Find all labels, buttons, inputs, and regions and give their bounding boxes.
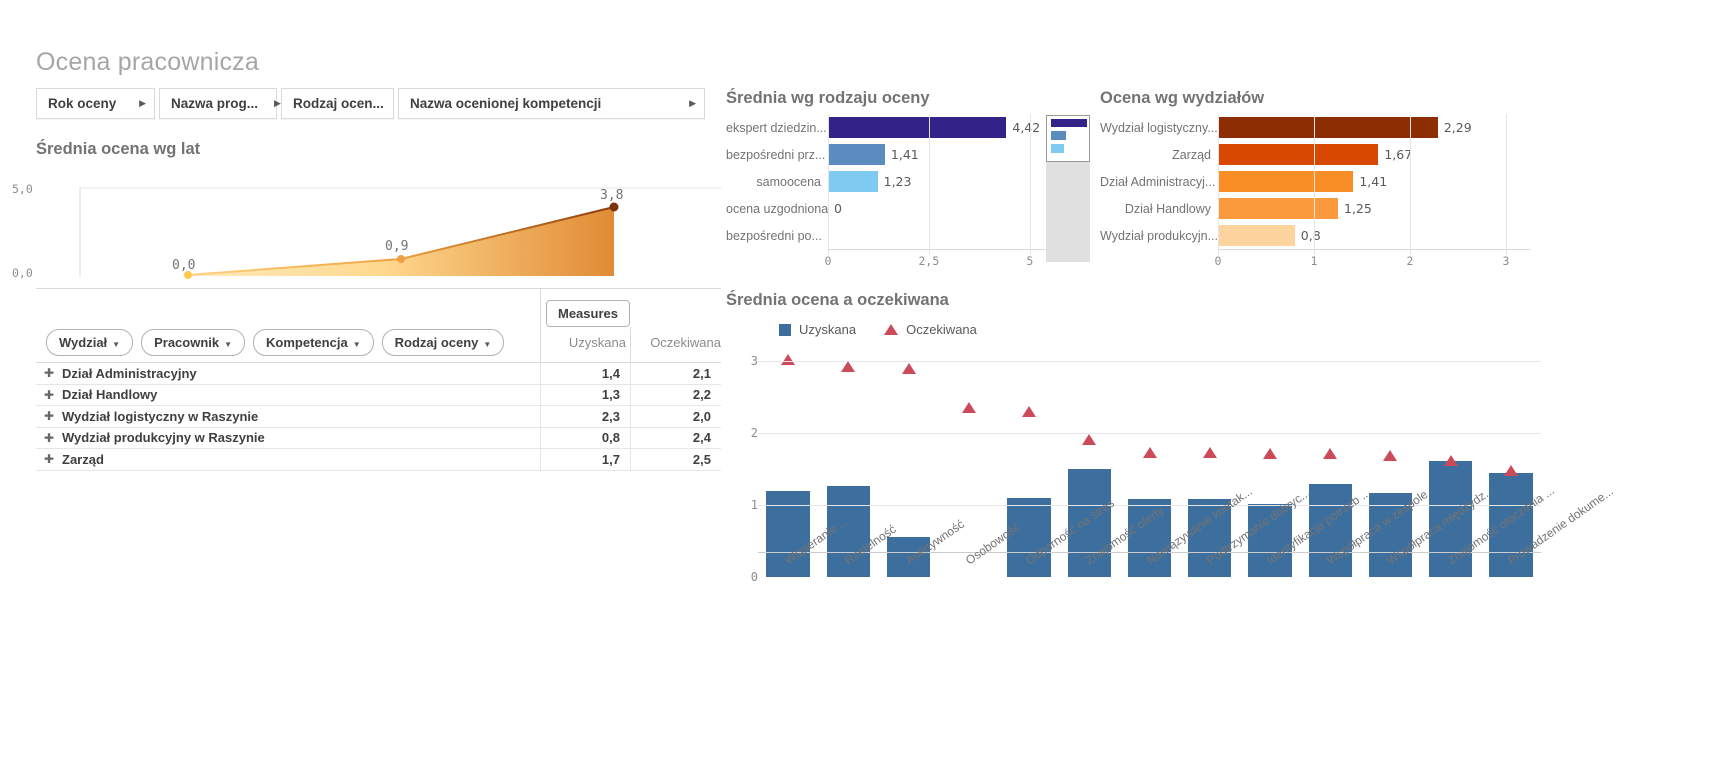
- column-header-oczekiwana[interactable]: Oczekiwana: [636, 335, 721, 350]
- legend-swatch: [1051, 119, 1087, 127]
- filter-nazwa-kompetencji[interactable]: Nazwa ocenionej kompetencji ▶: [398, 88, 705, 119]
- gridline: [828, 114, 829, 255]
- x-tick-label: 2: [1407, 254, 1414, 268]
- cell-divider: [630, 385, 631, 406]
- pivot-body: ✚ Dział Administracyjny 1,4 2,1 ✚ Dział …: [36, 363, 721, 471]
- x-tick-label: 1: [1311, 254, 1318, 268]
- chip-label: Wydział: [59, 335, 107, 350]
- dashboard-page: Ocena pracownicza Rok oceny ▶ Nazwa prog…: [0, 0, 1714, 783]
- x-tick-label: 3: [1503, 254, 1510, 268]
- y-tick-label: 0: [751, 570, 758, 584]
- line-chart-ytick-min: 0,0: [12, 266, 33, 280]
- scatter-marker[interactable]: [1203, 447, 1217, 458]
- pivot-table[interactable]: Measures Wydział▼ Pracownik▼ Kompetencja…: [36, 288, 721, 483]
- bar-row[interactable]: bezpośredni po...: [726, 222, 1054, 249]
- line-chart-point-label: 0,0: [172, 258, 195, 273]
- x-tick-label: 2,5: [919, 254, 940, 268]
- bar-track: 1,67: [1218, 141, 1530, 168]
- bar-value-label: 1,25: [1344, 201, 1372, 216]
- cell-divider: [540, 449, 541, 470]
- chip-label: Rodzaj oceny: [395, 335, 479, 350]
- legend-swatch: [1051, 131, 1066, 140]
- chevron-down-icon: ▼: [112, 340, 120, 349]
- scatter-marker[interactable]: [1082, 434, 1096, 445]
- legend: Uzyskana Oczekiwana: [726, 322, 1541, 337]
- line-chart-point-label: 0,9: [385, 239, 408, 254]
- bar-track: 1,41: [1218, 168, 1530, 195]
- bar-wydzialy-title: Ocena wg wydziałów: [1100, 89, 1264, 108]
- column-header-uzyskana[interactable]: Uzyskana: [546, 335, 626, 350]
- expand-plus-icon[interactable]: ✚: [36, 452, 62, 466]
- expand-plus-icon[interactable]: ✚: [36, 431, 62, 445]
- dimension-chip-wydzial[interactable]: Wydział▼: [46, 329, 133, 356]
- bar-track: 0,8: [1218, 222, 1530, 249]
- chevron-down-icon: ▼: [483, 340, 491, 349]
- bar-row[interactable]: Zarząd1,67: [1100, 141, 1530, 168]
- cell-divider: [630, 406, 631, 427]
- row-label: Zarząd: [62, 452, 546, 467]
- gridline: [929, 114, 930, 255]
- bar-value-label: 0: [834, 201, 842, 216]
- bar-row[interactable]: Wydział logistyczny...2,29: [1100, 114, 1530, 141]
- x-axis: 02,55: [726, 249, 1054, 271]
- legend-popup[interactable]: [1046, 115, 1090, 162]
- page-title: Ocena pracownicza: [36, 48, 259, 77]
- scatter-marker[interactable]: [1383, 450, 1397, 461]
- cell-oczekiwana: 2,5: [630, 452, 721, 467]
- row-label: Wydział logistyczny w Raszynie: [62, 409, 546, 424]
- legend-item-uzyskana[interactable]: Uzyskana: [779, 322, 856, 337]
- scatter-marker[interactable]: [1263, 448, 1277, 459]
- legend-label: Oczekiwana: [906, 322, 977, 337]
- y-axis: 0123: [726, 347, 758, 577]
- chevron-down-icon: ▼: [224, 340, 232, 349]
- x-axis: 0123: [1100, 249, 1530, 271]
- table-row[interactable]: ✚ Wydział logistyczny w Raszynie 2,3 2,0: [36, 406, 721, 428]
- chevron-right-icon[interactable]: ▶: [689, 98, 696, 109]
- measures-chip[interactable]: Measures: [546, 300, 630, 327]
- bar-row[interactable]: samoocena1,23: [726, 168, 1054, 195]
- column-divider: [630, 327, 631, 363]
- bar-value-label: 1,67: [1384, 147, 1412, 162]
- cell-oczekiwana: 2,0: [630, 409, 721, 424]
- legend-square-icon: [779, 324, 791, 336]
- filter-label: Nazwa prog...: [171, 96, 258, 111]
- table-row[interactable]: ✚ Wydział produkcyjny w Raszynie 0,8 2,4: [36, 428, 721, 450]
- bar-category-label: Zarząd: [1100, 148, 1218, 162]
- chevron-right-icon[interactable]: ▶: [274, 98, 281, 109]
- gridline: [1030, 114, 1031, 255]
- axis-baseline: [1218, 249, 1530, 250]
- gridline: [1410, 114, 1411, 255]
- bar-category-label: Dział Administracyj...: [1100, 175, 1218, 189]
- expand-plus-icon[interactable]: ✚: [36, 366, 62, 380]
- cell-oczekiwana: 2,4: [630, 430, 721, 445]
- bar-row[interactable]: ocena uzgodniona0: [726, 195, 1054, 222]
- x-tick-label: 5: [1026, 254, 1033, 268]
- scatter-marker[interactable]: [1022, 406, 1036, 417]
- gridline: [1506, 114, 1507, 255]
- bar-category-label: bezpośredni prz...: [726, 148, 828, 162]
- bar-category-label: ocena uzgodniona: [726, 202, 828, 216]
- bar-row[interactable]: Dział Handlowy1,25: [1100, 195, 1530, 222]
- bar-row[interactable]: Dział Administracyj...1,41: [1100, 168, 1530, 195]
- bar-track: [828, 222, 1054, 249]
- bar-row[interactable]: ekspert dziedzin...4,42: [726, 114, 1054, 141]
- dimension-chip-kompetencja[interactable]: Kompetencja▼: [253, 329, 374, 356]
- legend-item-oczekiwana[interactable]: Oczekiwana: [884, 322, 977, 337]
- bar[interactable]: [1218, 117, 1438, 138]
- bar-value-label: 0,8: [1301, 228, 1321, 243]
- bar[interactable]: [1218, 198, 1338, 219]
- dimension-chip-pracownik[interactable]: Pracownik▼: [141, 329, 245, 356]
- scatter-marker[interactable]: [1444, 455, 1458, 466]
- axis-baseline: [828, 249, 1054, 250]
- chip-label: Kompetencja: [266, 335, 348, 350]
- scatter-marker[interactable]: [1143, 447, 1157, 458]
- scatter-marker[interactable]: [841, 361, 855, 372]
- scatter-marker[interactable]: [902, 363, 916, 374]
- legend-label: Uzyskana: [799, 322, 856, 337]
- bar[interactable]: [828, 117, 1006, 138]
- line-chart-title: Średnia ocena wg lat: [36, 140, 200, 159]
- scatter-marker[interactable]: [962, 402, 976, 413]
- scatter-marker[interactable]: [1323, 448, 1337, 459]
- filter-nazwa-programu[interactable]: Nazwa prog... ▶: [159, 88, 277, 119]
- bar[interactable]: [1218, 225, 1295, 246]
- bar[interactable]: [1218, 144, 1378, 165]
- cell-divider: [630, 428, 631, 449]
- bar-rows: ekspert dziedzin...4,42bezpośredni prz..…: [726, 114, 1054, 249]
- expand-plus-icon[interactable]: ✚: [36, 388, 62, 402]
- bar-track: 4,42: [828, 114, 1054, 141]
- legend-triangle-icon: [884, 324, 898, 335]
- line-chart-point-label: 3,8: [600, 188, 623, 203]
- bar-value-label: 1,23: [884, 174, 912, 189]
- table-row[interactable]: ✚ Zarząd 1,7 2,5: [36, 449, 721, 471]
- filter-label: Nazwa ocenionej kompetencji: [410, 96, 601, 111]
- chevron-down-icon: ▼: [353, 340, 361, 349]
- gridline: [758, 433, 1541, 434]
- cell-oczekiwana: 2,1: [630, 366, 721, 381]
- bar-value-label: 4,42: [1012, 120, 1040, 135]
- row-label: Dział Handlowy: [62, 387, 546, 402]
- bar[interactable]: [828, 171, 878, 192]
- gridline: [758, 361, 1541, 362]
- bar-track: 1,23: [828, 168, 1054, 195]
- row-label: Wydział produkcyjny w Raszynie: [62, 430, 546, 445]
- column-divider: [540, 289, 541, 363]
- cell-divider: [630, 363, 631, 384]
- cell-divider: [540, 363, 541, 384]
- bar-category-label: Wydział logistyczny...: [1100, 121, 1218, 135]
- cell-uzyskana: 1,3: [546, 387, 630, 402]
- x-axis-labels: Wspieranie ...RzetelnośćAsertywnośćOsobo…: [758, 556, 1541, 676]
- table-row[interactable]: ✚ Dział Handlowy 1,3 2,2: [36, 385, 721, 407]
- bar-track: 0: [828, 195, 1054, 222]
- bar-value-label: 1,41: [891, 147, 919, 162]
- cell-divider: [540, 428, 541, 449]
- cell-divider: [630, 449, 631, 470]
- gridline: [1218, 114, 1219, 255]
- cell-oczekiwana: 2,2: [630, 387, 721, 402]
- bar[interactable]: [828, 144, 885, 165]
- gridline: [758, 505, 1541, 506]
- legend-swatch: [1051, 144, 1064, 153]
- bar-category-label: bezpośredni po...: [726, 229, 828, 243]
- dimension-chip-rodzaj-oceny[interactable]: Rodzaj oceny▼: [382, 329, 505, 356]
- cell-divider: [540, 406, 541, 427]
- y-tick-label: 1: [751, 498, 758, 512]
- scroll-shade: [1046, 162, 1090, 262]
- gridline: [1314, 114, 1315, 255]
- bar-category-label: samoocena: [726, 175, 828, 189]
- bar-rows: Wydział logistyczny...2,29Zarząd1,67Dzia…: [1100, 114, 1530, 249]
- bar-value-label: 1,41: [1359, 174, 1387, 189]
- dimension-chip-group: Wydział▼ Pracownik▼ Kompetencja▼ Rodzaj …: [46, 329, 504, 356]
- bar-track: 2,29: [1218, 114, 1530, 141]
- cell-uzyskana: 2,3: [546, 409, 630, 424]
- cell-uzyskana: 1,7: [546, 452, 630, 467]
- filter-bar: Rok oceny ▶ Nazwa prog... ▶ Rodzaj ocen.…: [36, 88, 705, 119]
- filter-rok-oceny[interactable]: Rok oceny ▶: [36, 88, 155, 119]
- x-tick-label: 0: [1215, 254, 1222, 268]
- bar-rodzaju-title: Średnia wg rodzaju oceny: [726, 89, 930, 108]
- bar[interactable]: [1218, 171, 1353, 192]
- expand-plus-icon[interactable]: ✚: [36, 409, 62, 423]
- cell-uzyskana: 1,4: [546, 366, 630, 381]
- bar-value-label: 2,29: [1444, 120, 1472, 135]
- filter-label: Rodzaj ocen...: [293, 96, 384, 111]
- pivot-header: Measures Wydział▼ Pracownik▼ Kompetencja…: [36, 289, 721, 363]
- bar-row[interactable]: Wydział produkcyjn...0,8: [1100, 222, 1530, 249]
- bar-chart-wydzialy[interactable]: Wydział logistyczny...2,29Zarząd1,67Dzia…: [1100, 114, 1530, 274]
- bar-track: 1,25: [1218, 195, 1530, 222]
- filter-rodzaj-oceny[interactable]: Rodzaj ocen... ▶: [281, 88, 394, 119]
- y-tick-label: 2: [751, 426, 758, 440]
- bar-category-label: ekspert dziedzin...: [726, 121, 828, 135]
- combo-chart-title: Średnia ocena a oczekiwana: [726, 291, 949, 310]
- chevron-right-icon[interactable]: ▶: [139, 98, 146, 109]
- combo-chart[interactable]: Uzyskana Oczekiwana 0123 Wspieranie ...R…: [726, 322, 1541, 762]
- scatter-marker[interactable]: [781, 354, 795, 365]
- filter-label: Rok oceny: [48, 96, 116, 111]
- bar-category-label: Wydział produkcyjn...: [1100, 229, 1218, 243]
- cell-divider: [540, 385, 541, 406]
- bar-track: 1,41: [828, 141, 1054, 168]
- x-tick-label: 0: [825, 254, 832, 268]
- table-row[interactable]: ✚ Dział Administracyjny 1,4 2,1: [36, 363, 721, 385]
- bar-chart-rodzaju-oceny[interactable]: ekspert dziedzin...4,42bezpośredni prz..…: [726, 114, 1054, 274]
- bar-row[interactable]: bezpośredni prz...1,41: [726, 141, 1054, 168]
- chip-label: Pracownik: [154, 335, 219, 350]
- scatter-marker[interactable]: [1504, 465, 1518, 476]
- cell-uzyskana: 0,8: [546, 430, 630, 445]
- y-tick-label: 3: [751, 354, 758, 368]
- bar-category-label: Dział Handlowy: [1100, 202, 1218, 216]
- line-chart-ytick-max: 5,0: [12, 182, 33, 196]
- row-label: Dział Administracyjny: [62, 366, 546, 381]
